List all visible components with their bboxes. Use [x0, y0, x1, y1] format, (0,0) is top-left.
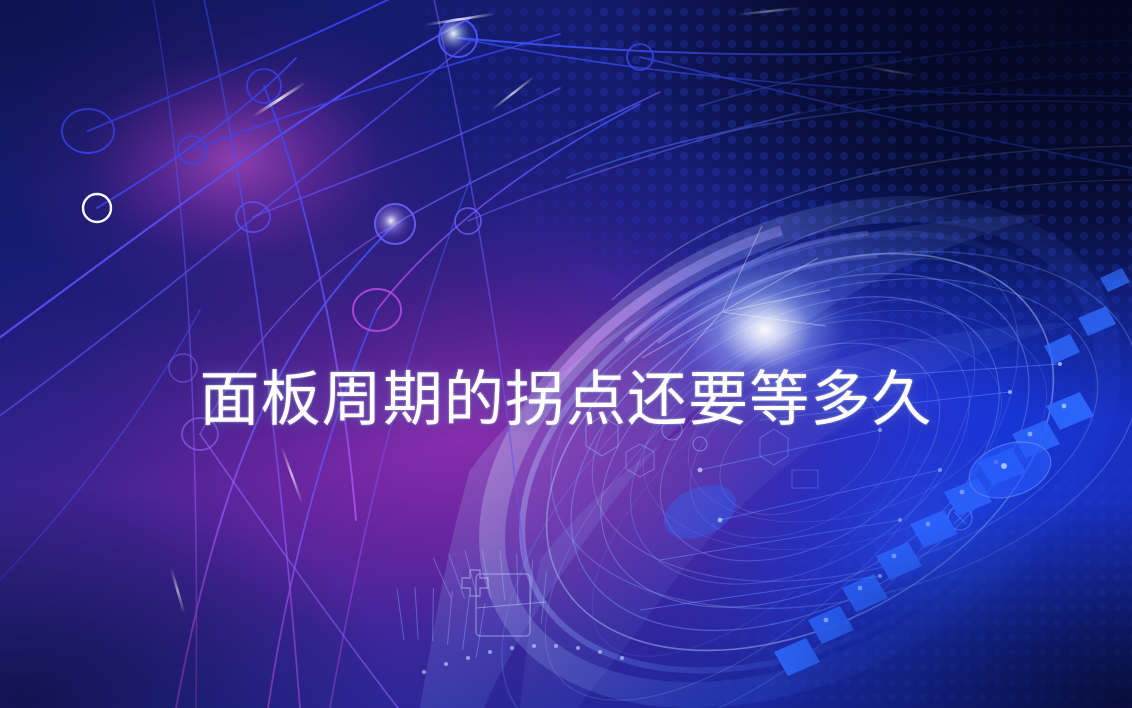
banner-root: 面板周期的拐点还要等多久	[0, 0, 1132, 708]
magenta-glow	[0, 0, 470, 320]
page-title: 面板周期的拐点还要等多久	[0, 370, 1132, 430]
hud-panel	[462, 570, 546, 636]
tick-dots	[422, 644, 624, 674]
tick-fan	[395, 518, 565, 669]
